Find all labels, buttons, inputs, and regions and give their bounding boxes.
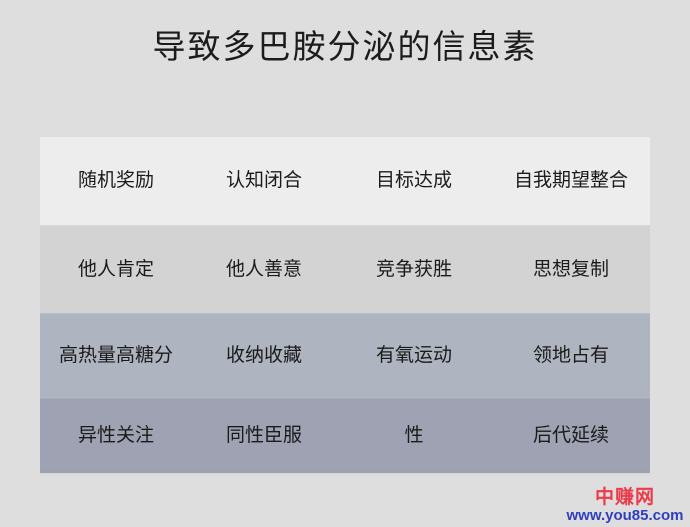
table-cell: 同性臣服 [192,423,336,449]
table-cell: 自我期望整合 [492,168,650,194]
table-cell: 目标达成 [336,168,492,194]
table-cell: 随机奖励 [40,168,192,194]
table-cell: 他人善意 [192,257,336,283]
table-cell: 异性关注 [40,423,192,449]
table-row: 他人肯定 他人善意 竞争获胜 思想复制 [40,225,650,313]
table-cell: 性 [336,423,492,449]
watermark-brand: 中赚网 [566,488,684,507]
table-cell: 思想复制 [492,257,650,283]
table-cell: 认知闭合 [192,168,336,194]
table-cell: 有氧运动 [336,343,492,369]
table-row: 随机奖励 认知闭合 目标达成 自我期望整合 [40,137,650,225]
pheromone-table: 随机奖励 认知闭合 目标达成 自我期望整合 他人肯定 他人善意 竞争获胜 思想复… [40,137,650,473]
slide-canvas: 导致多巴胺分泌的信息素 随机奖励 认知闭合 目标达成 自我期望整合 他人肯定 他… [0,0,690,527]
table-cell: 高热量高糖分 [40,343,192,369]
table-cell: 竞争获胜 [336,257,492,283]
table-cell: 收纳收藏 [192,343,336,369]
table-row: 高热量高糖分 收纳收藏 有氧运动 领地占有 [40,313,650,398]
page-title: 导致多巴胺分泌的信息素 [0,26,690,70]
watermark-url: www.you85.com [566,508,684,523]
table-row: 异性关注 同性臣服 性 后代延续 [40,398,650,473]
table-cell: 领地占有 [492,343,650,369]
table-cell: 他人肯定 [40,257,192,283]
table-cell: 后代延续 [492,423,650,449]
watermark: 中赚网 www.you85.com [566,488,684,523]
